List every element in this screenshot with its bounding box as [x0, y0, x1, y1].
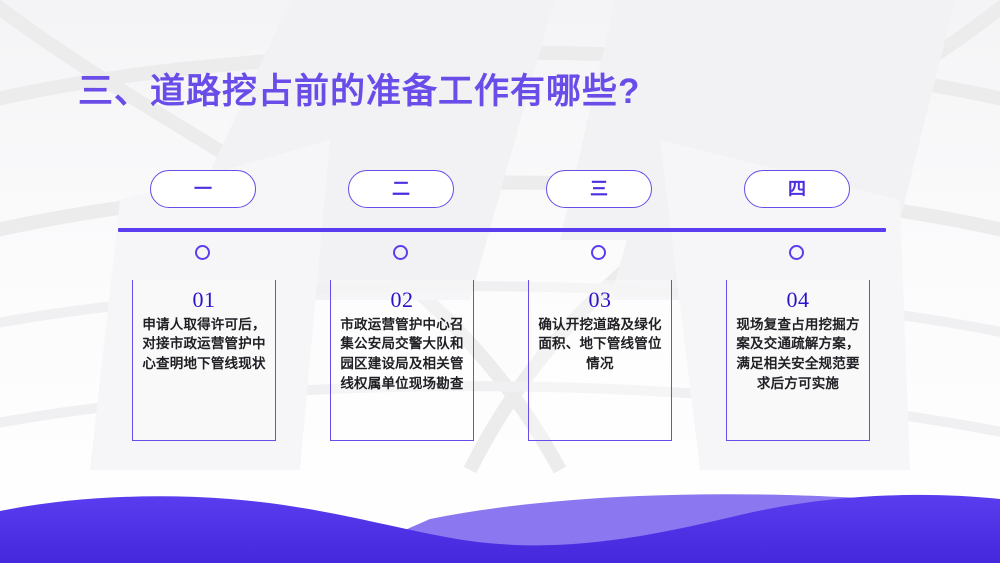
timeline-pill-3[interactable]: 三 [546, 170, 652, 208]
step-card-2: 02 市政运营管护中心召集公安局交警大队和园区建设局及相关管线权属单位现场勘查 [330, 280, 474, 441]
step-number-2: 02 [339, 286, 465, 314]
timeline-pill-4[interactable]: 四 [744, 170, 850, 208]
slide-canvas: 三、道路挖占前的准备工作有哪些? 一 二 三 四 01 申请人取得许可后，对接市… [0, 0, 1000, 563]
circle-marker-icon-2 [393, 245, 408, 260]
circle-marker-icon-3 [591, 245, 606, 260]
circle-marker-icon-4 [789, 245, 804, 260]
timeline-pill-2[interactable]: 二 [348, 170, 454, 208]
step-number-3: 03 [537, 286, 663, 314]
step-text-4: 现场复查占用挖掘方案及交通疏解方案，满足相关安全规范要求后方可实施 [735, 315, 861, 395]
page-title: 三、道路挖占前的准备工作有哪些? [78, 70, 640, 114]
step-text-2: 市政运营管护中心召集公安局交警大队和园区建设局及相关管线权属单位现场勘查 [339, 315, 465, 395]
circle-marker-icon-1 [195, 245, 210, 260]
step-number-1: 01 [141, 286, 267, 314]
timeline-pill-1[interactable]: 一 [150, 170, 256, 208]
wave-icon [0, 453, 1000, 563]
bottom-wave-decoration [0, 453, 1000, 563]
wave-back-shape [330, 494, 1000, 563]
timeline-axis [118, 228, 886, 232]
wave-front-shape [0, 495, 1000, 563]
step-card-4: 04 现场复查占用挖掘方案及交通疏解方案，满足相关安全规范要求后方可实施 [726, 280, 870, 441]
step-card-3: 03 确认开挖道路及绿化面积、地下管线管位情况 [528, 280, 672, 441]
step-card-1: 01 申请人取得许可后，对接市政运营管护中心查明地下管线现状 [132, 280, 276, 441]
step-text-3: 确认开挖道路及绿化面积、地下管线管位情况 [537, 315, 663, 375]
step-text-1: 申请人取得许可后，对接市政运营管护中心查明地下管线现状 [141, 315, 267, 375]
step-number-4: 04 [735, 286, 861, 314]
